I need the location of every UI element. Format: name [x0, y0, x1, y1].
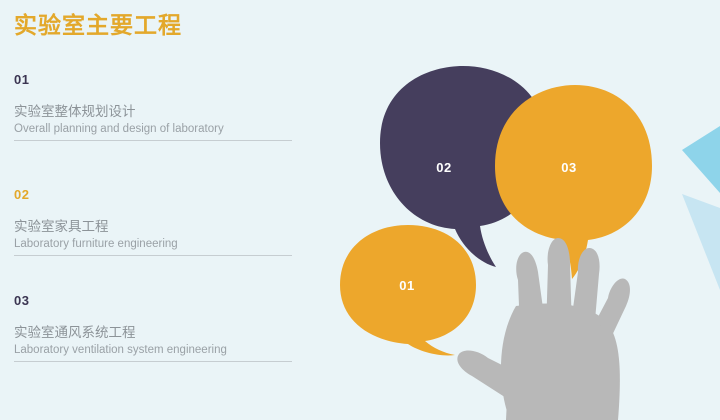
speech-bubble-03-label: 03: [561, 160, 576, 175]
list-item[interactable]: 01 实验室整体规划设计 Overall planning and design…: [14, 72, 292, 141]
list-item-title-cn: 实验室家具工程: [14, 217, 292, 236]
list-item-number: 02: [14, 187, 292, 203]
list-item-number: 01: [14, 72, 292, 88]
triangle-bottom-icon: [682, 194, 720, 290]
list-item-divider: [14, 361, 292, 362]
slide-canvas: 实验室主要工程 01 实验室整体规划设计 Overall planning an…: [0, 0, 720, 420]
speech-bubble-01-label: 01: [399, 278, 414, 293]
page-title: 实验室主要工程: [14, 10, 182, 40]
list-item-divider: [14, 255, 292, 256]
list-item-title-en: Overall planning and design of laborator…: [14, 122, 292, 137]
list-item[interactable]: 02 实验室家具工程 Laboratory furniture engineer…: [14, 187, 292, 256]
list-item-divider: [14, 140, 292, 141]
illustration-graphic: 02 03 01: [320, 40, 720, 420]
list-item[interactable]: 03 实验室通风系统工程 Laboratory ventilation syst…: [14, 293, 292, 362]
list-item-number: 03: [14, 293, 292, 309]
speech-bubble-03[interactable]: 03: [495, 85, 652, 279]
list-item-title-en: Laboratory ventilation system engineerin…: [14, 343, 292, 358]
list-item-title-cn: 实验室整体规划设计: [14, 102, 292, 121]
list-item-title-cn: 实验室通风系统工程: [14, 323, 292, 342]
speech-bubble-02-label: 02: [436, 160, 451, 175]
hand-icon: [457, 238, 630, 420]
speech-bubble-01[interactable]: 01: [340, 225, 476, 355]
list-item-title-en: Laboratory furniture engineering: [14, 237, 292, 252]
triangle-top-icon: [682, 126, 720, 193]
